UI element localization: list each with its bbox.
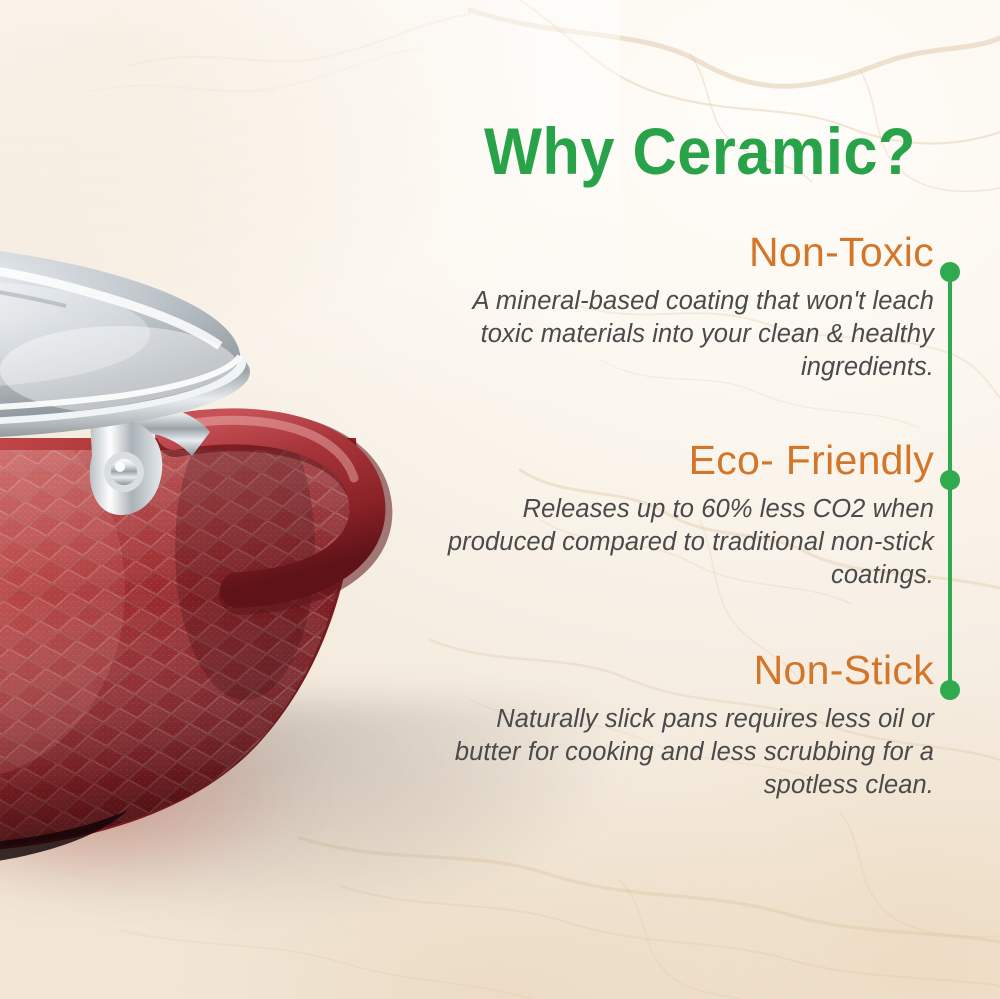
timeline-node-3 <box>940 680 960 700</box>
infographic-canvas: Why Ceramic? Non-Toxic A mineral-based c… <box>0 0 1000 999</box>
feature-non-stick: Non-Stick Naturally slick pans requires … <box>430 650 934 802</box>
feature-title: Non-Stick <box>430 650 934 692</box>
feature-non-toxic: Non-Toxic A mineral-based coating that w… <box>430 232 934 384</box>
feature-eco-friendly: Eco- Friendly Releases up to 60% less CO… <box>430 440 934 592</box>
feature-title: Non-Toxic <box>430 232 934 274</box>
pot-body <box>0 400 370 868</box>
feature-timeline-line <box>948 272 952 690</box>
timeline-node-1 <box>940 262 960 282</box>
page-title: Why Ceramic? <box>440 118 961 184</box>
feature-title: Eco- Friendly <box>430 440 934 482</box>
feature-description: Naturally slick pans requires less oil o… <box>430 703 934 802</box>
timeline-node-2 <box>940 470 960 490</box>
feature-description: A mineral-based coating that won't leach… <box>430 285 934 384</box>
feature-description: Releases up to 60% less CO2 when produce… <box>430 493 934 592</box>
